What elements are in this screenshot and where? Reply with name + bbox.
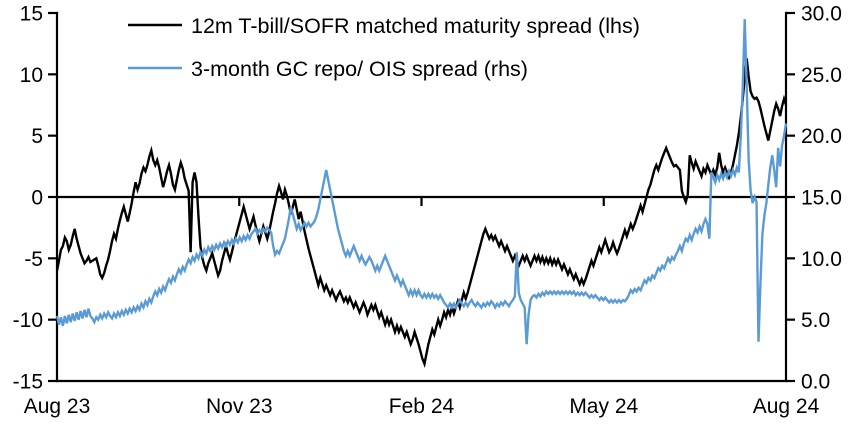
- x-axis-tick-label: May 24: [569, 395, 638, 418]
- right-axis-tick-label: 15.0: [801, 187, 842, 210]
- left-axis-tick-label: 0: [31, 187, 43, 210]
- chart-container: 151050-5-10-15 30.025.020.015.010.05.00.…: [0, 0, 852, 432]
- legend-label-rhs: 3-month GC repo/ OIS spread (rhs): [191, 57, 528, 81]
- line-chart: 151050-5-10-15 30.025.020.015.010.05.00.…: [0, 0, 852, 432]
- right-axis-tick-label: 30.0: [801, 3, 842, 26]
- right-axis-tick-label: 25.0: [801, 64, 842, 87]
- x-axis-tick-label: Aug 24: [753, 395, 820, 418]
- right-axis-tick-label: 10.0: [801, 248, 842, 271]
- x-axis-tick-label: Feb 24: [389, 395, 455, 418]
- left-axis-tick-label: -5: [24, 248, 43, 271]
- right-axis-tick-label: 5.0: [801, 309, 830, 332]
- left-axis-tick-label: 5: [31, 125, 43, 148]
- right-axis-tick-label: 20.0: [801, 125, 842, 148]
- x-axis-tick-label: Nov 23: [206, 395, 273, 418]
- left-axis-tick-label: 10: [20, 64, 43, 87]
- left-axis-tick-label: -10: [13, 309, 43, 332]
- right-axis-tick-label: 0.0: [801, 371, 830, 394]
- left-axis-tick-label: -15: [13, 371, 43, 394]
- left-axis-tick-label: 15: [20, 3, 43, 26]
- x-axis-tick-label: Aug 23: [24, 395, 91, 418]
- legend-label-lhs: 12m T-bill/SOFR matched maturity spread …: [191, 14, 640, 38]
